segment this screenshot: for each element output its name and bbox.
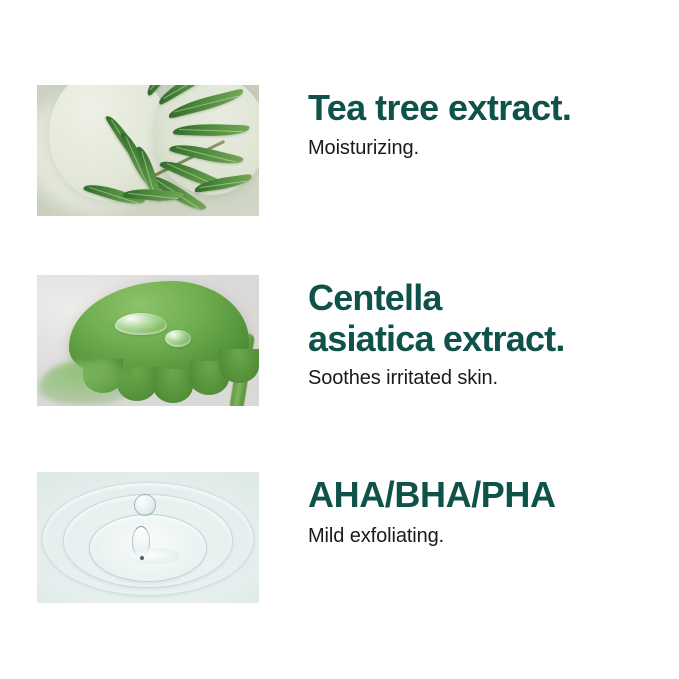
falling-droplet [134,494,156,516]
feature-row-tea-tree: Tea tree extract. Moisturizing. [0,85,679,216]
feature-row-aha-bha-pha: AHA/BHA/PHA Mild exfoliating. [0,472,679,603]
feature-image-centella [37,275,259,406]
water-droplet-large [115,313,167,335]
leaf-scallop [219,349,259,383]
feature-image-tea-tree [37,85,259,216]
feature-text-aha-bha-pha: AHA/BHA/PHA Mild exfoliating. [308,472,679,549]
feature-title: Centella asiatica extract. [308,277,679,359]
splash-dot [140,556,144,560]
water-droplet-small [165,330,191,347]
feature-subtitle: Soothes irritated skin. [308,365,679,391]
background-leaf-blur [39,361,131,405]
feature-subtitle: Moisturizing. [308,135,679,161]
centella-illustration [37,275,259,406]
feature-text-centella: Centella asiatica extract. Soothes irrit… [308,275,679,391]
feature-row-centella: Centella asiatica extract. Soothes irrit… [0,275,679,406]
feature-image-water-drop [37,472,259,603]
ingredient-benefits-page: Tea tree extract. Moisturizing. Centella… [0,0,679,679]
feature-text-tea-tree: Tea tree extract. Moisturizing. [308,85,679,161]
feature-title: Tea tree extract. [308,87,679,128]
tea-tree-illustration [37,85,259,216]
feature-title: AHA/BHA/PHA [308,474,679,515]
leaf-scallop [153,369,193,403]
splash-crown [126,548,180,564]
water-droplet-illustration [37,472,259,603]
feature-subtitle: Mild exfoliating. [308,523,679,549]
